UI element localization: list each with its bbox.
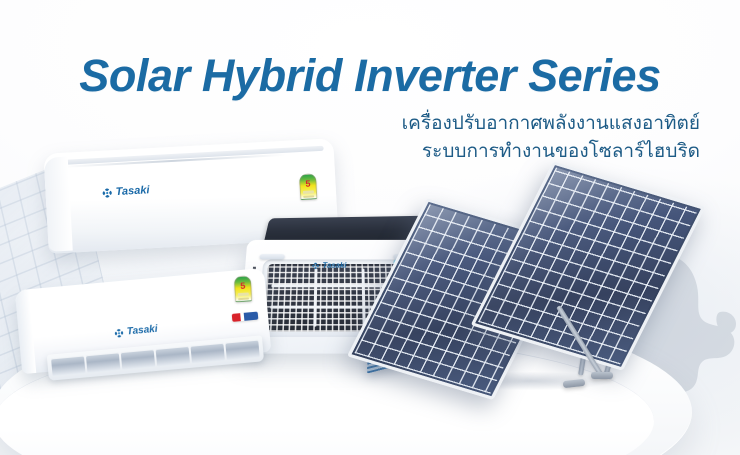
brand-name: Tasaki (322, 261, 346, 269)
energy-label-bar (303, 190, 314, 194)
energy-rating-value: 5 (300, 179, 315, 189)
solar-hybrid-banner: Tasaki 5 (0, 0, 740, 455)
louver-blade (51, 355, 85, 376)
energy-label-wrap: 5 (234, 275, 252, 302)
tasaki-fan-mark-icon (114, 327, 125, 338)
energy-label-wrap: 5 (299, 173, 317, 200)
subtitle-block: เครื่องปรับอากาศพลังงานแสงอาทิตย์ ระบบกา… (280, 110, 700, 165)
tasaki-fan-mark-icon (101, 187, 113, 199)
unit-side-panel (44, 157, 73, 252)
subtitle-line-1: เครื่องปรับอากาศพลังงานแสงอาทิตย์ (280, 110, 700, 138)
energy-label-bar-2 (238, 297, 249, 300)
brand-name: Tasaki (115, 184, 149, 198)
energy-efficiency-label-icon: 5 (299, 173, 317, 200)
louver-blade (121, 349, 155, 370)
tasaki-fan-mark-icon (312, 262, 320, 269)
solar-panel-array (393, 196, 693, 384)
energy-rating-value: 5 (235, 281, 250, 291)
photovoltaic-cells (478, 168, 698, 365)
subtitle-line-2: ระบบการทำงานของโซลาร์ไฮบริด (280, 138, 700, 166)
brand-logo: Tasaki (312, 261, 347, 269)
energy-efficiency-label-icon: 5 (234, 275, 252, 302)
cassette-swing-flap-left (259, 254, 284, 259)
energy-label-bar (238, 292, 249, 296)
grille-divider-v1 (313, 269, 317, 327)
louver-blade (225, 340, 259, 361)
louver-blade (156, 346, 190, 367)
solar-mount-foot (591, 372, 613, 379)
page-title: Solar Hybrid Inverter Series (0, 50, 740, 102)
energy-label-bar-2 (303, 195, 314, 198)
louver-blade (86, 352, 120, 373)
louver-blade (190, 343, 224, 364)
